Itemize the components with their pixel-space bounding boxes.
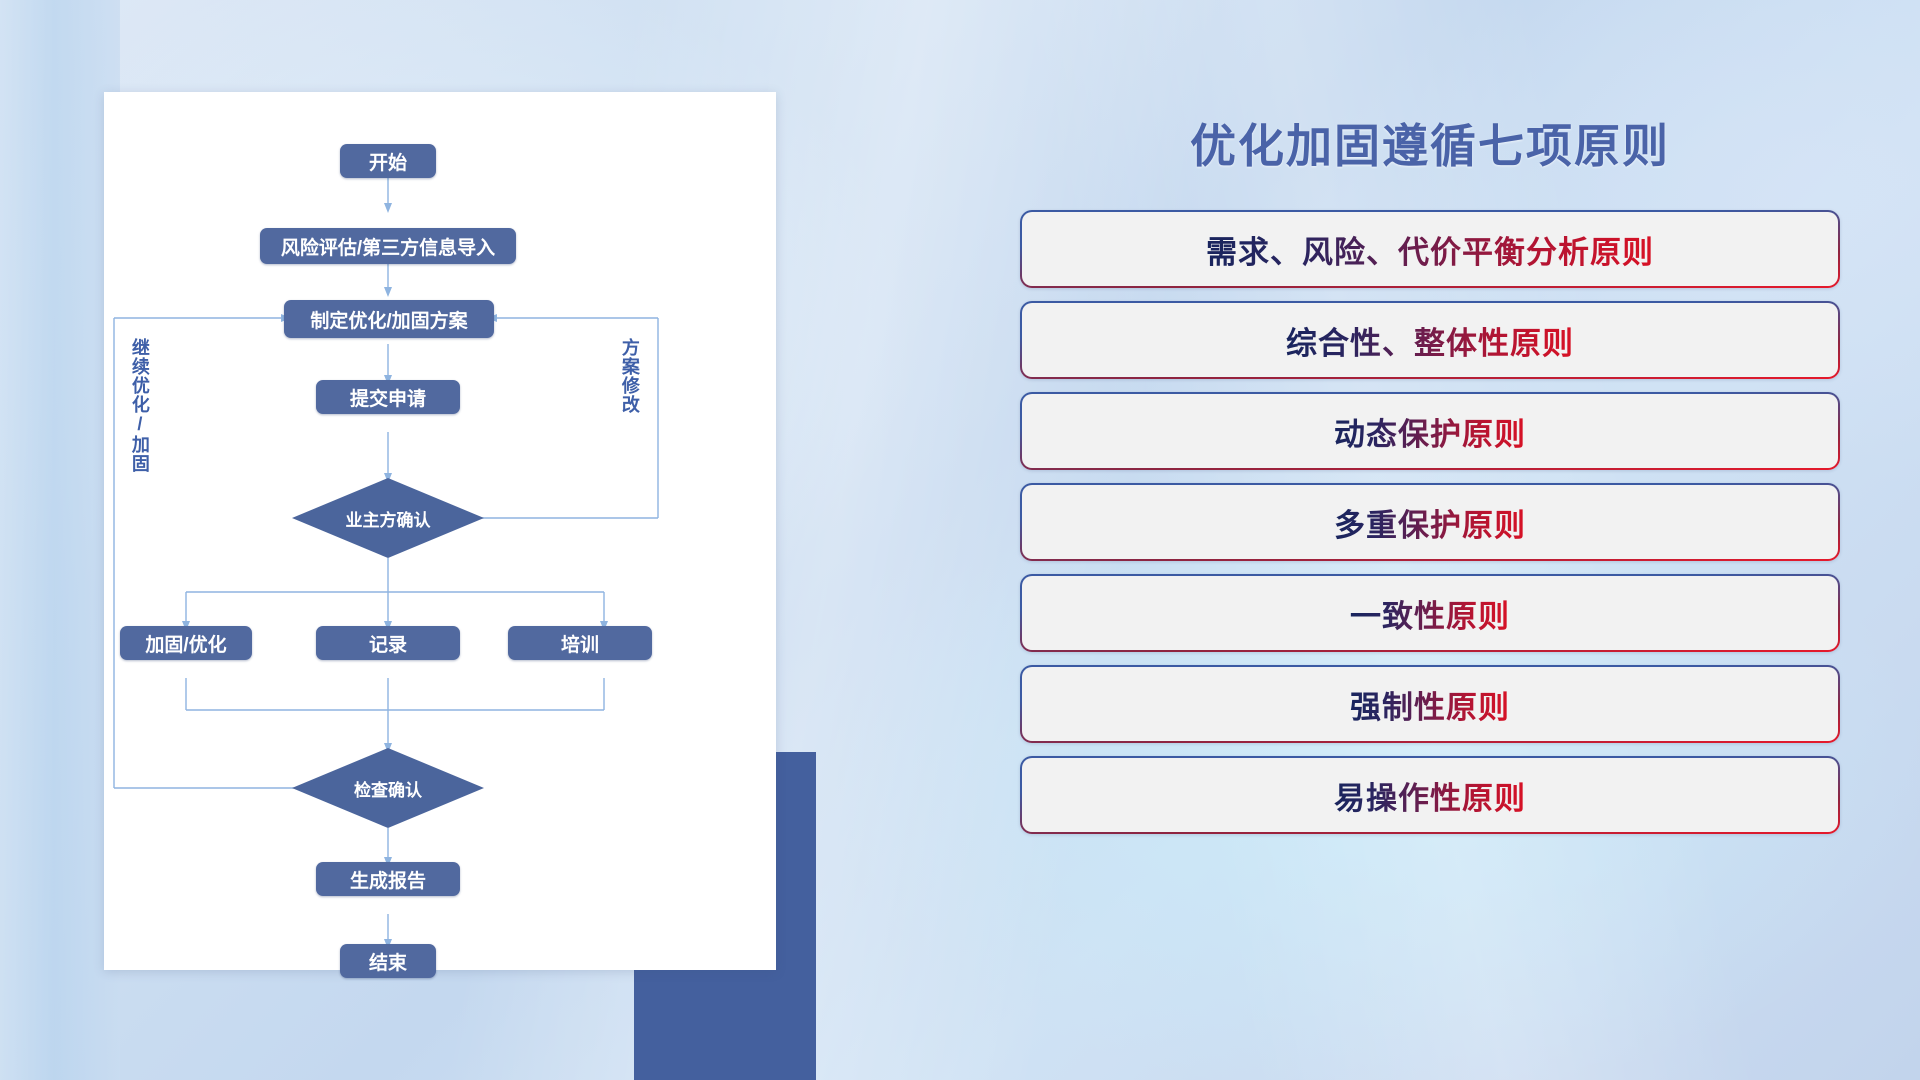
flow-node-record[interactable]: 记录 — [316, 626, 460, 660]
principle-label: 强制性原则 — [1350, 682, 1510, 727]
flow-node-label: 结束 — [369, 948, 407, 975]
flow-node-make-plan[interactable]: 制定优化/加固方案 — [284, 300, 494, 338]
flow-node-training[interactable]: 培训 — [508, 626, 652, 660]
principle-item[interactable]: 多重保护原则 — [1020, 483, 1840, 561]
flow-node-label: 记录 — [369, 630, 407, 657]
flow-node-label: 检查确认 — [354, 776, 422, 801]
principle-label: 多重保护原则 — [1334, 500, 1526, 545]
principle-label: 需求、风险、代价平衡分析原则 — [1206, 227, 1654, 272]
flow-node-label: 提交申请 — [350, 384, 426, 411]
principle-label: 易操作性原则 — [1334, 773, 1526, 818]
flow-node-label: 制定优化/加固方案 — [310, 306, 467, 333]
principle-item[interactable]: 易操作性原则 — [1020, 756, 1840, 834]
page-title: 优化加固遵循七项原则 — [1020, 110, 1840, 176]
flow-node-generate-report[interactable]: 生成报告 — [316, 862, 460, 896]
flow-node-label: 开始 — [369, 148, 407, 175]
principle-item[interactable]: 强制性原则 — [1020, 665, 1840, 743]
flow-node-label: 生成报告 — [350, 866, 426, 893]
principle-item[interactable]: 动态保护原则 — [1020, 392, 1840, 470]
flow-node-reinforce-optimize[interactable]: 加固/优化 — [120, 626, 252, 660]
flow-node-end[interactable]: 结束 — [340, 944, 436, 978]
principles-panel: 优化加固遵循七项原则 需求、风险、代价平衡分析原则 综合性、整体性原则 动态保护… — [1020, 92, 1840, 1012]
flow-node-label: 风险评估/第三方信息导入 — [281, 233, 495, 260]
flow-node-label: 加固/优化 — [145, 630, 226, 657]
flow-node-submit-application[interactable]: 提交申请 — [316, 380, 460, 414]
flow-node-start[interactable]: 开始 — [340, 144, 436, 178]
flow-node-label: 业主方确认 — [346, 506, 431, 531]
flow-node-label: 培训 — [561, 630, 599, 657]
principle-list: 需求、风险、代价平衡分析原则 综合性、整体性原则 动态保护原则 多重保护原则 一… — [1020, 210, 1840, 847]
flowchart-diagram: 开始 风险评估/第三方信息导入 制定优化/加固方案 提交申请 业主方确认 加固/… — [104, 92, 776, 970]
principle-label: 动态保护原则 — [1334, 409, 1526, 454]
flow-node-risk-assessment[interactable]: 风险评估/第三方信息导入 — [260, 228, 516, 264]
flowchart-card: 开始 风险评估/第三方信息导入 制定优化/加固方案 提交申请 业主方确认 加固/… — [104, 92, 776, 970]
principle-label: 综合性、整体性原则 — [1286, 318, 1574, 363]
slide-canvas: 开始 风险评估/第三方信息导入 制定优化/加固方案 提交申请 业主方确认 加固/… — [0, 0, 1920, 1080]
edge-label-plan-revision: 方案修改 — [620, 338, 639, 414]
flowchart-panel: 开始 风险评估/第三方信息导入 制定优化/加固方案 提交申请 业主方确认 加固/… — [104, 92, 784, 972]
principle-item[interactable]: 一致性原则 — [1020, 574, 1840, 652]
principle-item[interactable]: 综合性、整体性原则 — [1020, 301, 1840, 379]
principle-label: 一致性原则 — [1350, 591, 1510, 636]
principle-item[interactable]: 需求、风险、代价平衡分析原则 — [1020, 210, 1840, 288]
edge-label-continue-optimize: 继续优化/加固 — [130, 338, 149, 473]
